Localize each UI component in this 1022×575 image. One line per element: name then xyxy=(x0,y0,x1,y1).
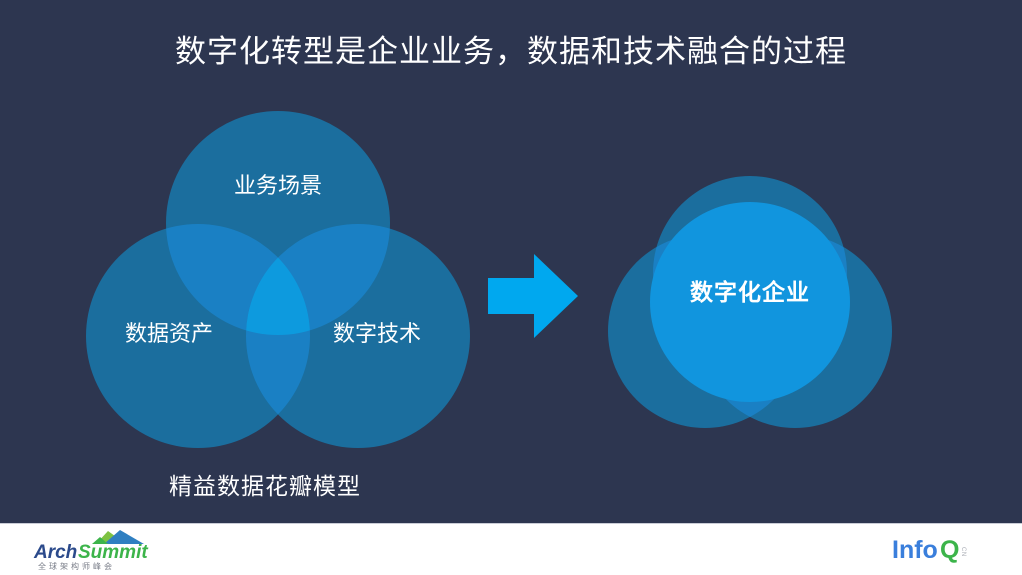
venn-label-top: 业务场景 xyxy=(193,173,363,199)
venn-caption: 精益数据花瓣模型 xyxy=(120,470,410,502)
venn-diagram: 业务场景 数据资产 数字技术 xyxy=(85,108,475,458)
right-arrow-icon xyxy=(488,252,580,340)
svg-text:Arch: Arch xyxy=(33,542,77,563)
archsummit-logo: Arch Summit 全球架构师峰会 xyxy=(32,528,172,572)
slide-canvas: 数字化转型是企业业务，数据和技术融合的过程 xyxy=(0,0,1022,523)
svg-text:Info: Info xyxy=(892,536,938,564)
page-title: 数字化转型是企业业务，数据和技术融合的过程 xyxy=(0,30,1022,74)
slide-footer: Arch Summit 全球架构师峰会 Info Q CN xyxy=(0,523,1022,575)
venn-label-right: 数字技术 xyxy=(292,321,462,347)
digital-enterprise-cluster: 数字化企业 xyxy=(600,176,900,428)
svg-text:Q: Q xyxy=(940,536,959,564)
svg-text:Summit: Summit xyxy=(78,542,148,563)
slide-root: 数字化转型是企业业务，数据和技术融合的过程 xyxy=(0,0,1022,574)
venn-label-left: 数据资产 xyxy=(84,321,254,347)
svg-text:全球架构师峰会: 全球架构师峰会 xyxy=(38,561,115,571)
cluster-label: 数字化企业 xyxy=(640,276,860,308)
infoq-logo: Info Q CN xyxy=(884,531,1004,567)
svg-text:CN: CN xyxy=(960,547,966,557)
